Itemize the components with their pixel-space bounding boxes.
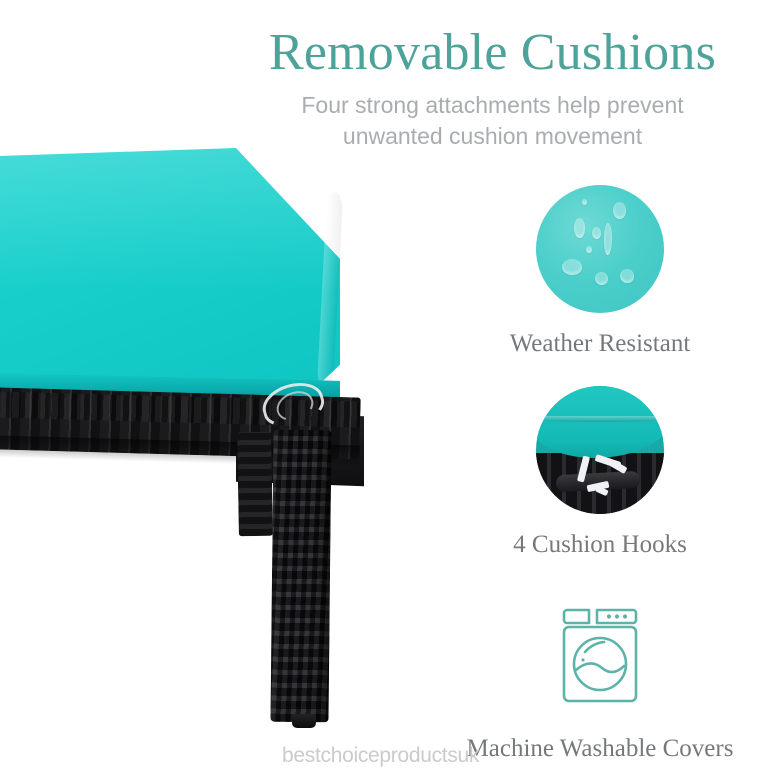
water-drop [604,223,612,255]
cushion-edge-lip [536,416,664,422]
feature-caption-2: 4 Cushion Hooks [420,530,780,560]
water-drop [592,227,601,239]
cushion-hooks-photo-icon [536,386,664,514]
water-drop [595,272,608,285]
cushion-highlight [0,148,340,294]
feature-media-1 [536,185,664,313]
washer-dial-dot [615,614,619,618]
feature-media-3 [536,590,664,718]
water-drop [562,259,582,275]
washer-bubble-dot [581,658,584,661]
leg-foot-cap [292,714,316,728]
water-drop [613,202,626,219]
frame-back-leg [237,432,273,537]
cushion-underside [536,386,664,458]
feature-item-cushion-hooks: 4 Cushion Hooks [420,386,780,560]
washer-dial-dot [623,614,627,618]
leg-weave-texture [270,430,331,723]
frame-front-leg [270,430,331,723]
water-droplets-fabric-icon [536,185,664,313]
washer-dial-dot [607,614,611,618]
watermark: bestchoiceproductsuk [282,744,479,768]
feature-item-weather-resistant: Weather Resistant [420,185,780,359]
product-photo [0,0,420,780]
water-drop [620,269,634,283]
feature-media-2 [536,386,664,514]
cushion-top-surface [0,148,340,400]
feature-caption-1: Weather Resistant [420,329,780,359]
water-drop [582,199,587,205]
washing-machine-icon [536,590,664,718]
water-drop [586,246,592,253]
product-feature-infographic: Removable Cushions Four strong attachmen… [0,0,780,780]
feature-item-machine-washable: Machine Washable Covers [420,590,780,764]
water-drop [574,218,585,238]
feature-list: Weather Resistant 4 Cushion Hooks [420,185,780,764]
